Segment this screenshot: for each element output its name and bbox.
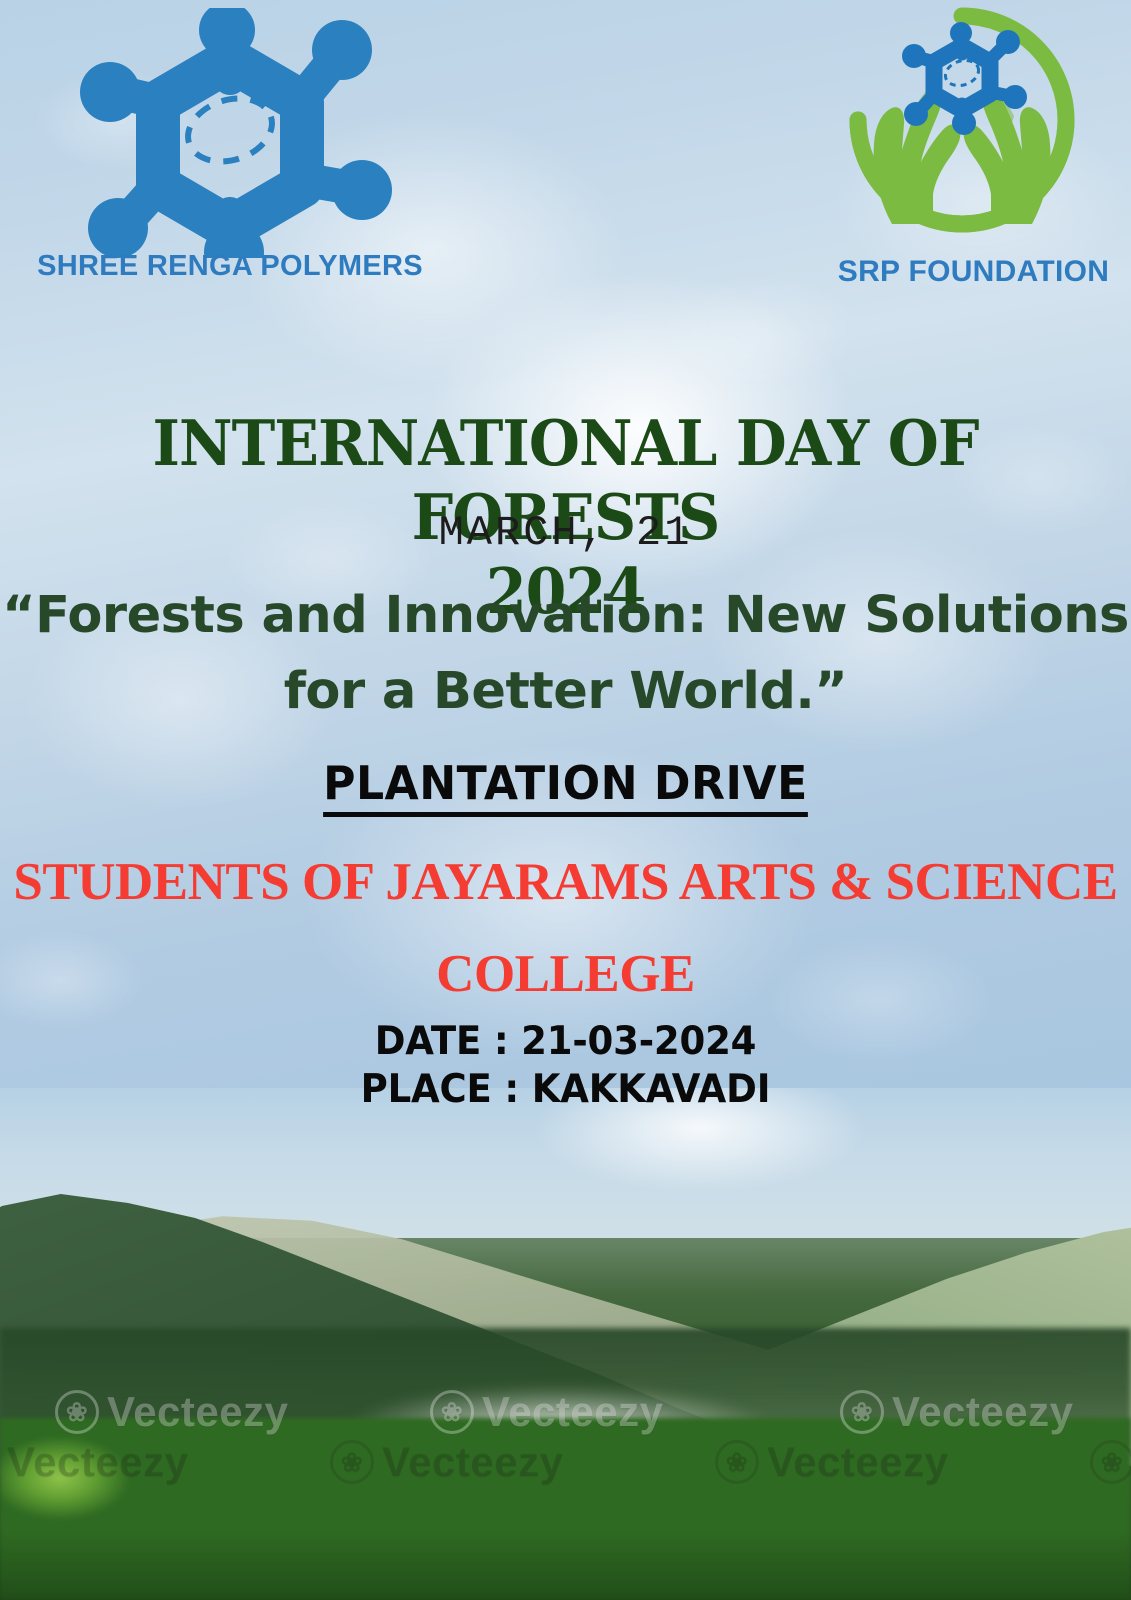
logo-right-caption: SRP FOUNDATION bbox=[808, 255, 1131, 289]
forest-photo: ❀ Vecteezy ❀ Vecteezy ❀ Vecteezy ❀ Vecte… bbox=[0, 1088, 1131, 1600]
event-date: DATE : 21-03-2024 bbox=[28, 1018, 1102, 1066]
polymer-molecule-icon bbox=[30, 8, 430, 258]
hands-holding-molecule-icon bbox=[822, 0, 1102, 250]
event-place: PLACE : KAKKAVADI bbox=[28, 1066, 1102, 1114]
logo-left-caption: SHREE RENGA POLYMERS bbox=[30, 250, 430, 283]
theme-line-1: “Forests and Innovation: New Solutions bbox=[0, 578, 1131, 654]
participants-heading: STUDENTS OF JAYARAMS ARTS & SCIENCE COLL… bbox=[0, 836, 1131, 1020]
canopy-shadow bbox=[0, 1530, 1131, 1600]
event-details: DATE : 21-03-2024 PLACE : KAKKAVADI bbox=[0, 1018, 1131, 1114]
observance-date: MARCH, 21 bbox=[0, 508, 1131, 558]
shree-renga-polymers-logo: SHREE RENGA POLYMERS bbox=[30, 8, 430, 293]
theme-quote: “Forests and Innovation: New Solutions f… bbox=[0, 578, 1131, 730]
srp-foundation-logo: SRP FOUNDATION bbox=[800, 0, 1131, 295]
activity-heading-wrap: PLANTATION DRIVE bbox=[0, 756, 1131, 817]
poster-canvas: ❀ Vecteezy ❀ Vecteezy ❀ Vecteezy ❀ Vecte… bbox=[0, 0, 1131, 1600]
theme-line-2: for a Better World.” bbox=[0, 654, 1131, 730]
participants-line-1: STUDENTS OF JAYARAMS ARTS & SCIENCE bbox=[0, 836, 1131, 928]
participants-line-2: COLLEGE bbox=[0, 928, 1131, 1020]
activity-heading: PLANTATION DRIVE bbox=[323, 756, 808, 817]
